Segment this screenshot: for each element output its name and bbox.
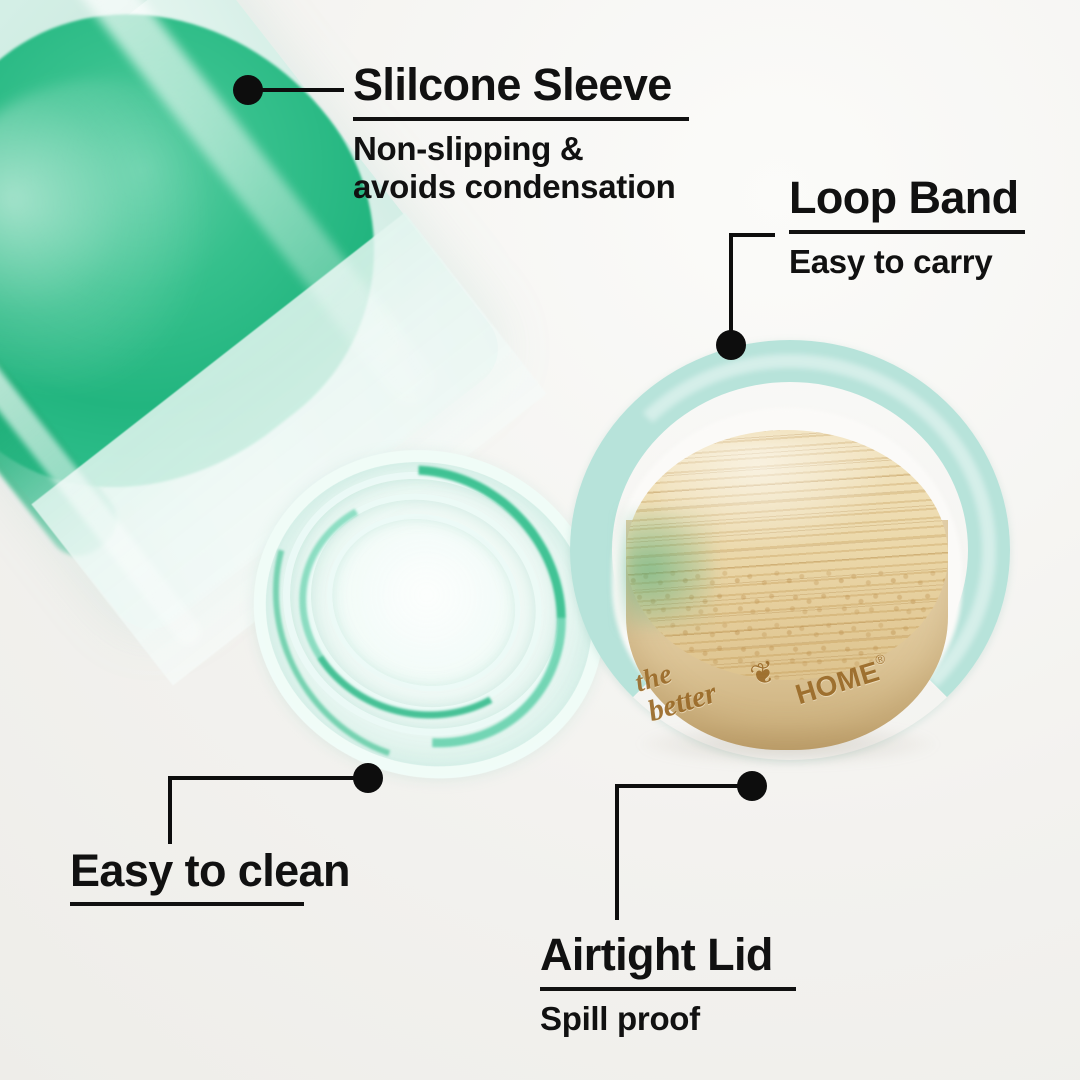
callout-rule-airtight-lid xyxy=(540,987,796,991)
callout-title-easy-to-clean: Easy to clean xyxy=(70,848,350,895)
callout-leader-airtight-lid-vertical xyxy=(615,784,619,920)
callout-subtitle-loop-band: Easy to carry xyxy=(789,243,1025,281)
callout-title-silicone-sleeve: Slilcone Sleeve xyxy=(353,62,689,109)
callout-rule-easy-to-clean xyxy=(70,902,304,906)
callout-leader-silicone-sleeve xyxy=(262,88,344,92)
callout-silicone-sleeve: Slilcone Sleeve Non-slipping & avoids co… xyxy=(353,62,689,206)
callout-title-airtight-lid: Airtight Lid xyxy=(540,932,796,979)
callout-loop-band: Loop Band Easy to carry xyxy=(789,175,1025,281)
callout-airtight-lid: Airtight Lid Spill proof xyxy=(540,932,796,1038)
callout-subtitle-airtight-lid: Spill proof xyxy=(540,1000,796,1038)
callout-leader-easy-to-clean-horizontal xyxy=(168,776,360,780)
callout-easy-to-clean: Easy to clean xyxy=(70,848,350,906)
callout-layer: Slilcone Sleeve Non-slipping & avoids co… xyxy=(0,0,1080,1080)
callout-subtitle-silicone-sleeve-line2: avoids condensation xyxy=(353,168,689,206)
callout-leader-airtight-lid-horizontal xyxy=(615,784,743,788)
callout-rule-loop-band xyxy=(789,230,1025,234)
callout-subtitle-silicone-sleeve-line1: Non-slipping & xyxy=(353,130,689,168)
callout-rule-silicone-sleeve xyxy=(353,117,689,121)
callout-dot-silicone-sleeve xyxy=(233,75,263,105)
callout-title-loop-band: Loop Band xyxy=(789,175,1025,222)
infographic-canvas: the better ❦ HOME ® Slilcone Sleeve Non-… xyxy=(0,0,1080,1080)
callout-leader-loop-band-horizontal xyxy=(729,233,775,237)
callout-leader-loop-band-vertical xyxy=(729,233,733,337)
callout-leader-easy-to-clean-vertical xyxy=(168,776,172,844)
